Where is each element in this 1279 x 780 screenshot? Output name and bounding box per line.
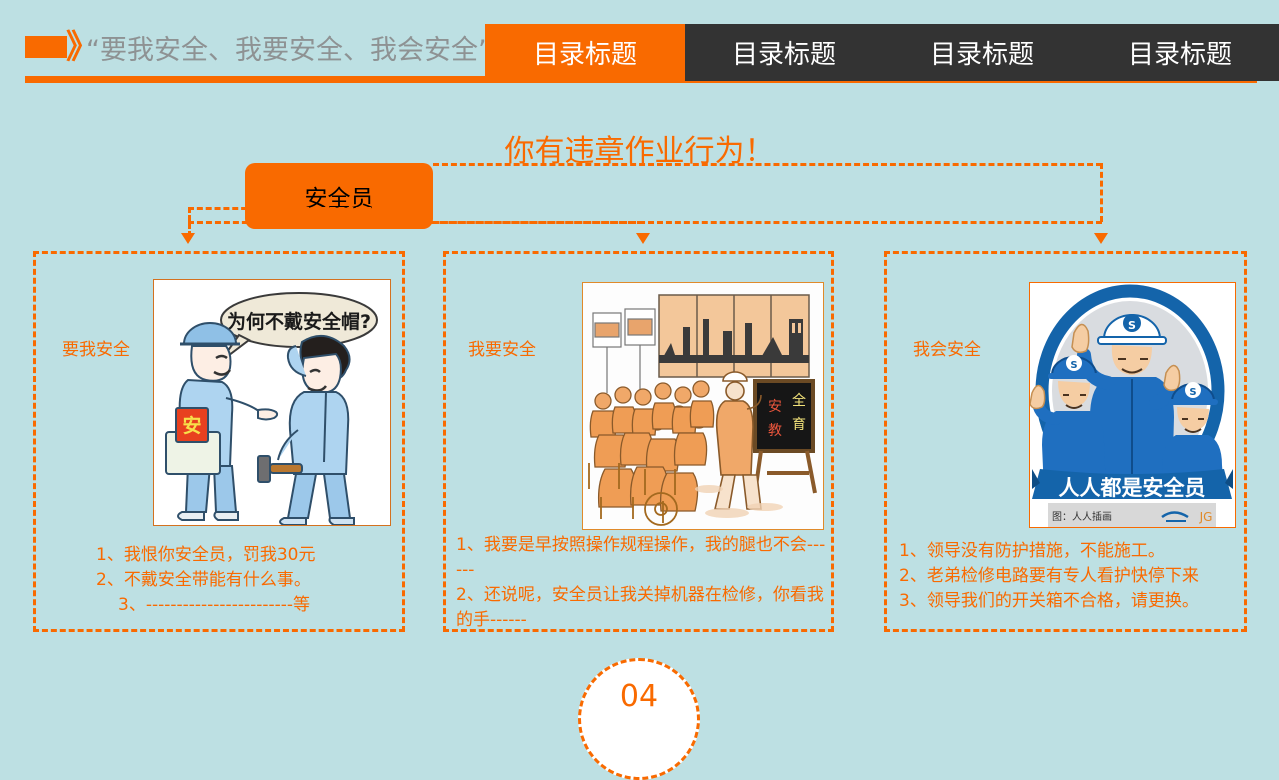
poster-banner-text: 人人都是安全员 bbox=[1059, 476, 1206, 500]
tab-catalog-4[interactable]: 目录标题 bbox=[1081, 24, 1279, 81]
panel-label-2: 我要安全 bbox=[468, 335, 536, 360]
panel-2-items: 1、我要是早按照操作规程操作，我的腿也不会------ 2、还说呢，安全员让我关… bbox=[456, 533, 828, 633]
arrow-down-panel-1 bbox=[181, 233, 195, 244]
svg-text:教: 教 bbox=[768, 423, 782, 439]
cartoon-safety-training-classroom: 全 育 安 教 bbox=[582, 282, 824, 530]
list-item: 1、领导没有防护措施，不能施工。 bbox=[899, 539, 1244, 564]
speech-bubble-text: 为何不戴安全帽? bbox=[227, 310, 371, 333]
panel-wo-yao-an-quan: 我要安全 bbox=[443, 251, 834, 632]
arrow-chevron-icon bbox=[25, 36, 67, 58]
connector-top-horizontal bbox=[433, 163, 1102, 166]
list-item: 2、老弟检修电路要有专人看护快停下来 bbox=[899, 564, 1244, 589]
list-item: 3、------------------------等 bbox=[96, 593, 396, 618]
page-number-badge: 04 bbox=[578, 658, 700, 780]
tab-catalog-2[interactable]: 目录标题 bbox=[685, 24, 883, 81]
slide-header: 》 “要我安全、我要安全、我会安全” 目录标题 目录标题 目录标题 目录标题 bbox=[0, 0, 1279, 110]
panel-yao-wo-an-quan: 要我安全 为何不戴安全帽? bbox=[33, 251, 405, 632]
svg-text:S: S bbox=[1128, 319, 1136, 332]
list-item: 2、还说呢，安全员让我关掉机器在检修，你看我的手------ bbox=[456, 583, 828, 633]
svg-text:全: 全 bbox=[792, 392, 806, 409]
list-item: 2、不戴安全带能有什么事。 bbox=[96, 568, 396, 593]
tab-strip: 目录标题 目录标题 目录标题 目录标题 bbox=[485, 24, 1279, 81]
svg-text:JG: JG bbox=[1199, 510, 1213, 524]
panel-wo-hui-an-quan: 我会安全 S bbox=[884, 251, 1247, 632]
list-item: 1、我恨你安全员，罚我30元 bbox=[96, 543, 396, 568]
svg-text:S: S bbox=[1070, 360, 1077, 371]
poster-credit-text: 图：人人插画 bbox=[1052, 510, 1112, 523]
connector-right-vertical bbox=[1100, 163, 1103, 222]
panel-label-3: 我会安全 bbox=[913, 335, 981, 360]
tab-catalog-1[interactable]: 目录标题 bbox=[485, 24, 685, 81]
list-item: 1、我要是早按照操作规程操作，我的腿也不会------ bbox=[456, 533, 828, 583]
briefcase-badge-text: 安 bbox=[182, 414, 201, 437]
cartoon-safety-officer-questioning-worker: 为何不戴安全帽? bbox=[153, 279, 391, 526]
panel-3-items: 1、领导没有防护措施，不能施工。 2、老弟检修电路要有专人看护快停下来 3、领导… bbox=[899, 539, 1244, 614]
svg-text:S: S bbox=[1189, 387, 1196, 398]
list-item: 3、领导我们的开关箱不合格，请更换。 bbox=[899, 589, 1244, 614]
arrow-down-panel-2 bbox=[636, 233, 650, 244]
header-quote: “要我安全、我要安全、我会安全” bbox=[86, 28, 506, 73]
role-box-safety-officer[interactable]: 安全员 bbox=[245, 163, 433, 229]
panel-1-items: 1、我恨你安全员，罚我30元 2、不戴安全带能有什么事。 3、---------… bbox=[96, 543, 396, 618]
connector-branch-left-horizontal bbox=[188, 207, 433, 210]
svg-text:安: 安 bbox=[768, 399, 782, 415]
connector-branch-mid-horizontal bbox=[188, 221, 643, 224]
arrow-down-panel-3 bbox=[1094, 233, 1108, 244]
poster-everyone-is-a-safety-officer: S S bbox=[1029, 282, 1236, 528]
panel-label-1: 要我安全 bbox=[62, 335, 130, 360]
tab-catalog-3[interactable]: 目录标题 bbox=[883, 24, 1081, 81]
svg-text:育: 育 bbox=[792, 417, 806, 433]
